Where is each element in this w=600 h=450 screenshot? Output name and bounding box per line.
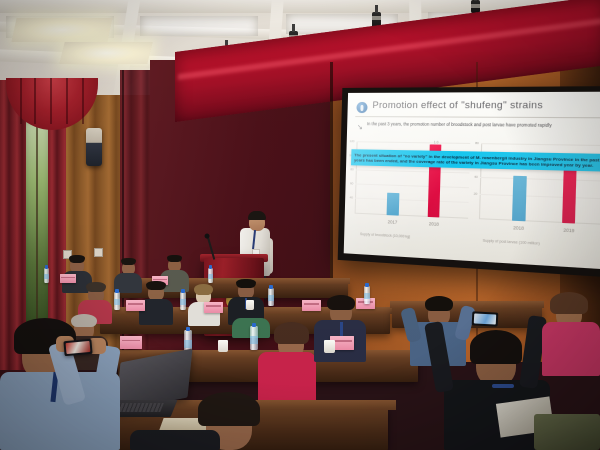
audience-hair <box>550 292 588 314</box>
x-axis <box>479 218 600 225</box>
paper-cup <box>246 300 254 310</box>
audience-hair <box>274 322 309 344</box>
audience-hair <box>86 282 106 292</box>
blue-circle-logo-icon <box>356 102 367 113</box>
audience-hair <box>236 279 256 288</box>
conference-photo: Promotion effect of "shufeng" strains ↘ … <box>0 0 600 450</box>
arrow-icon: ↘ <box>357 123 363 131</box>
table-name-card <box>204 302 223 313</box>
table-name-card <box>126 300 145 311</box>
slide-subtitle: In the past 3 years, the promotion numbe… <box>367 121 600 130</box>
slide-title: Promotion effect of "shufeng" strains <box>372 99 600 110</box>
x-tick-2017: 2017 <box>388 219 398 225</box>
phone-screen <box>474 313 496 324</box>
audience-hair <box>121 258 136 265</box>
curtain-fold <box>34 78 36 124</box>
water-bottle <box>114 292 120 310</box>
audience-lanyard <box>492 384 514 388</box>
y-tick-label: 80 <box>475 141 479 145</box>
bar-2019 <box>562 166 577 223</box>
paper-cup <box>218 340 228 352</box>
audience-hair <box>194 284 213 295</box>
audience-hair <box>69 255 85 263</box>
water-bottle <box>364 286 370 304</box>
foreground-torso <box>130 430 220 450</box>
slide-title-divider <box>355 116 600 118</box>
y-tick-label: 40 <box>350 195 354 199</box>
speaker-hair <box>248 211 266 220</box>
water-bottle <box>180 292 186 310</box>
y-tick-label: 40 <box>474 175 478 179</box>
curtain-fold <box>20 78 22 124</box>
table-name-card <box>120 336 142 349</box>
y-tick-label: 20 <box>474 192 478 196</box>
bar-2018 <box>512 176 527 222</box>
bar-value-label: 1.0 <box>434 140 439 144</box>
curtain-fold <box>50 78 52 124</box>
projection-screen: Promotion effect of "shufeng" strains ↘ … <box>344 92 600 270</box>
y-tick-label: 80 <box>350 167 354 171</box>
water-bottle <box>250 326 258 350</box>
table-name-card <box>60 274 76 283</box>
curtain-fold <box>66 78 68 124</box>
ceiling-light-panel <box>11 18 112 42</box>
wall-mounted-speaker <box>86 128 102 166</box>
window-mullion <box>36 120 38 325</box>
x-tick-2018: 2018 <box>429 221 439 227</box>
paper-cup <box>324 340 335 353</box>
audience-lanyard <box>340 322 343 336</box>
audience-hair <box>470 330 522 364</box>
audience-torso <box>542 322 600 376</box>
olive-bag <box>534 414 600 450</box>
chart-caption-postlarvae: Supply of post larvae (100 million) <box>483 238 540 245</box>
wall-outlet <box>94 248 103 257</box>
audience-hair-grey <box>71 314 97 327</box>
curtain-fold <box>82 78 84 124</box>
water-bottle <box>268 288 274 306</box>
chart-caption-broodstock: Supply of broodstock (10,000 kg) <box>360 232 410 239</box>
audience-hair <box>425 296 453 311</box>
ceiling-light-panel <box>59 42 152 64</box>
foreground-hair <box>198 392 260 426</box>
bar-2017 <box>387 193 400 216</box>
x-tick-2019: 2019 <box>563 227 574 233</box>
phone-screen <box>66 341 91 354</box>
table-name-card <box>302 300 321 311</box>
audience-hair <box>146 281 166 290</box>
audience-hair <box>327 295 355 310</box>
water-bottle <box>208 268 213 283</box>
x-axis <box>355 213 469 219</box>
x-tick-2018: 2018 <box>513 225 524 231</box>
projection-screen-frame: Promotion effect of "shufeng" strains ↘ … <box>338 86 600 278</box>
audience-hair <box>167 255 182 262</box>
y-tick-label: 120 <box>349 139 354 143</box>
callout-text: The present situation of "no variety" in… <box>354 152 600 170</box>
water-bottle <box>44 268 49 283</box>
y-tick-label: 60 <box>350 181 354 185</box>
